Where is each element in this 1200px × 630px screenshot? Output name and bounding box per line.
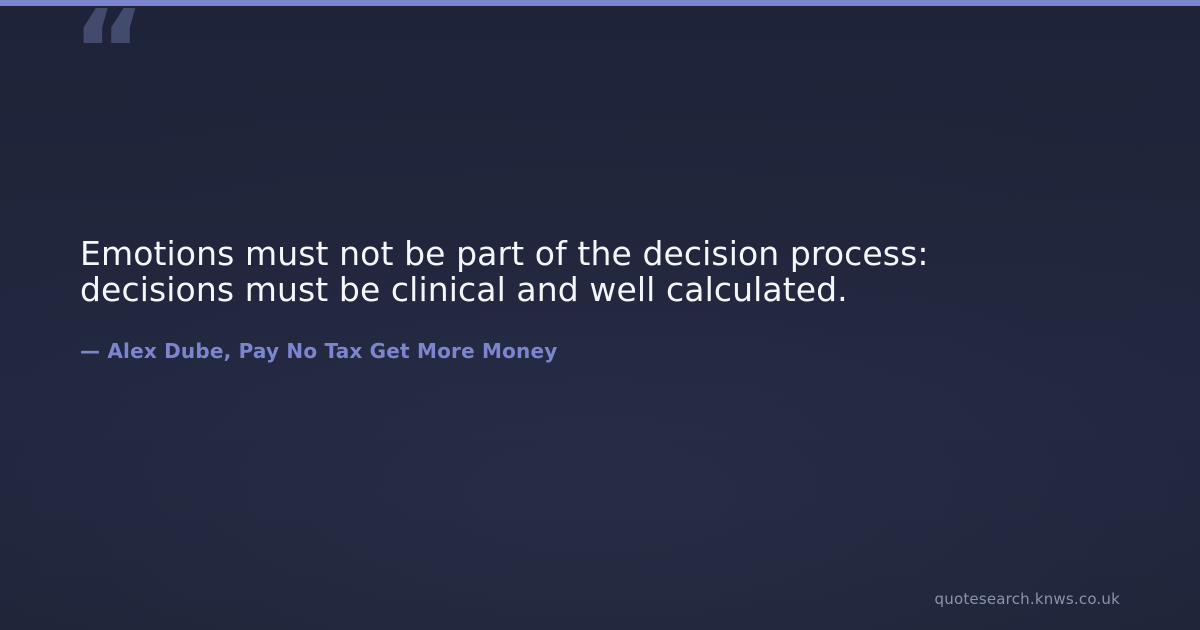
quote-text: Emotions must not be part of the decisio… [80, 236, 1080, 308]
quote-attribution: — Alex Dube, Pay No Tax Get More Money [80, 308, 1120, 363]
quote-content: Emotions must not be part of the decisio… [80, 236, 1120, 363]
open-quote-icon: “ [72, 0, 144, 108]
source-url: quotesearch.knws.co.uk [935, 590, 1120, 608]
top-accent-bar [0, 0, 1200, 6]
quote-card: “ Emotions must not be part of the decis… [0, 0, 1200, 630]
